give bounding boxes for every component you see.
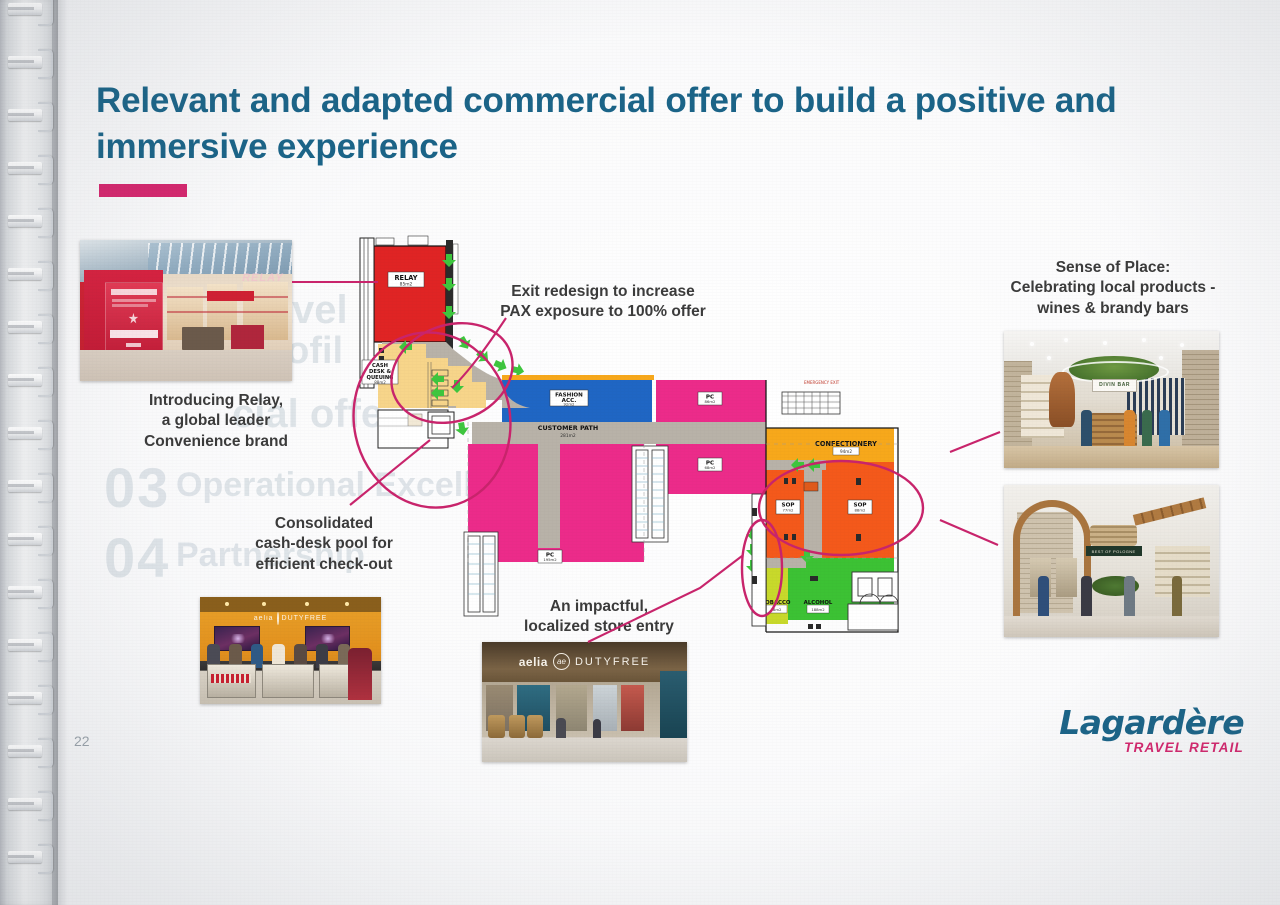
callout-sense-of-place: Sense of Place: Celebrating local produc… [1000,258,1226,319]
page-title-line-1: Relevant and adapted commercial offer to… [96,81,1117,120]
binding-comb-tooth [8,685,52,711]
photo-local-sign: BEST OF POLOGNE [1086,546,1142,557]
svg-text:281m2: 281m2 [560,433,576,439]
brand-logo-tagline: TRAVEL RETAIL [1059,741,1244,755]
showthrough-number-04: 04 [104,525,170,590]
binding-comb-tooth [8,0,52,22]
svg-text:86m2: 86m2 [705,399,717,404]
spiral-binding: /* combs injected below */ [0,0,58,905]
svg-text:EMERGENCY EXIT: EMERGENCY EXIT [804,380,840,385]
callout-entry-line-1: An impactful, [496,597,702,617]
binding-comb-tooth [8,473,52,499]
svg-text:68m2: 68m2 [705,465,717,470]
svg-text:88m2: 88m2 [374,380,386,385]
showthrough-number-03: 03 [104,455,170,520]
binding-comb-tooth [8,791,52,817]
callout-sense-line-1: Sense of Place: [1000,258,1226,278]
photo-divin-bar: DIVIN BAR [1004,331,1219,468]
page-title: Relevant and adapted commercial offer to… [96,78,1156,169]
svg-text:92m2: 92m2 [564,402,576,407]
callout-entry-line-2: localized store entry [496,617,702,637]
photo-local-products: BEST OF POLOGNE [1004,485,1219,637]
binding-comb-tooth [8,314,52,340]
callout-relay-line-3: Convenience brand [86,432,346,452]
photo-divin-sign: DIVIN BAR [1092,379,1137,392]
svg-text:85m2: 85m2 [400,281,413,287]
callout-relay-line-2: a global leader [86,411,346,431]
callout-exit-line-2: PAX exposure to 100% offer [484,302,722,322]
svg-text:195m2: 195m2 [543,557,557,562]
binding-shadow [52,0,68,905]
photo-store-entry: aelia ae DUTYFREE [482,642,687,762]
callout-cash-desk: Consolidated cash-desk pool for efficien… [216,514,432,575]
photo-relay-store: RELAY [80,240,292,381]
binding-comb-tooth [8,526,52,552]
binding-comb-tooth [8,367,52,393]
binding-comb-tooth [8,155,52,181]
callout-relay-line-1: Introducing Relay, [86,391,346,411]
photo-store-brandmark: ae [553,653,570,670]
page-title-line-2: immersive experience [96,124,1156,170]
svg-text:38m2: 38m2 [771,607,783,612]
photo-store-brand: aelia [519,655,548,669]
binding-comb-tooth [8,632,52,658]
binding-comb-tooth [8,579,52,605]
photo-cash-desk: aelia DUTYFREE [200,597,381,704]
callout-relay: Introducing Relay, a global leader Conve… [86,391,346,452]
callout-cash-line-3: efficient check-out [216,555,432,575]
brand-logo: Lagardère TRAVEL RETAIL [1059,706,1244,755]
callout-exit-line-1: Exit redesign to increase [484,282,722,302]
binding-comb-tooth [8,420,52,446]
callout-sense-line-2: Celebrating local products - [1000,278,1226,298]
svg-text:188m2: 188m2 [811,607,825,612]
binding-comb-tooth [8,208,52,234]
binding-comb-tooth [8,261,52,287]
leader-sense-top [950,432,1000,452]
callout-cash-line-2: cash-desk pool for [216,534,432,554]
callout-cash-line-1: Consolidated [216,514,432,534]
binding-comb-tooth [8,844,52,870]
svg-text:CUSTOMER PATH: CUSTOMER PATH [538,424,598,432]
photo-store-brand2: DUTYFREE [575,656,650,668]
callout-sense-line-3: wines & brandy bars [1000,299,1226,319]
svg-text:RELAY: RELAY [394,274,417,282]
svg-text:94m2: 94m2 [840,449,852,454]
binding-comb-tooth [8,102,52,128]
svg-text:77m2: 77m2 [783,507,795,512]
callout-store-entry: An impactful, localized store entry [496,597,702,638]
page-number: 22 [74,733,90,749]
slide-page: /* combs injected below */ Travel R Prof… [0,0,1280,905]
photo-cash-brand: aelia [254,615,274,622]
binding-comb-tooth [8,49,52,75]
callout-exit-redesign: Exit redesign to increase PAX exposure t… [484,282,722,323]
brand-logo-name: Lagardère [1059,706,1244,739]
photo-cash-brand2: DUTYFREE [282,615,328,622]
svg-text:88m2: 88m2 [855,507,867,512]
photo-relay-fascia-text: RELAY [242,272,283,284]
title-accent-rule [99,184,187,197]
binding-comb-tooth [8,738,52,764]
